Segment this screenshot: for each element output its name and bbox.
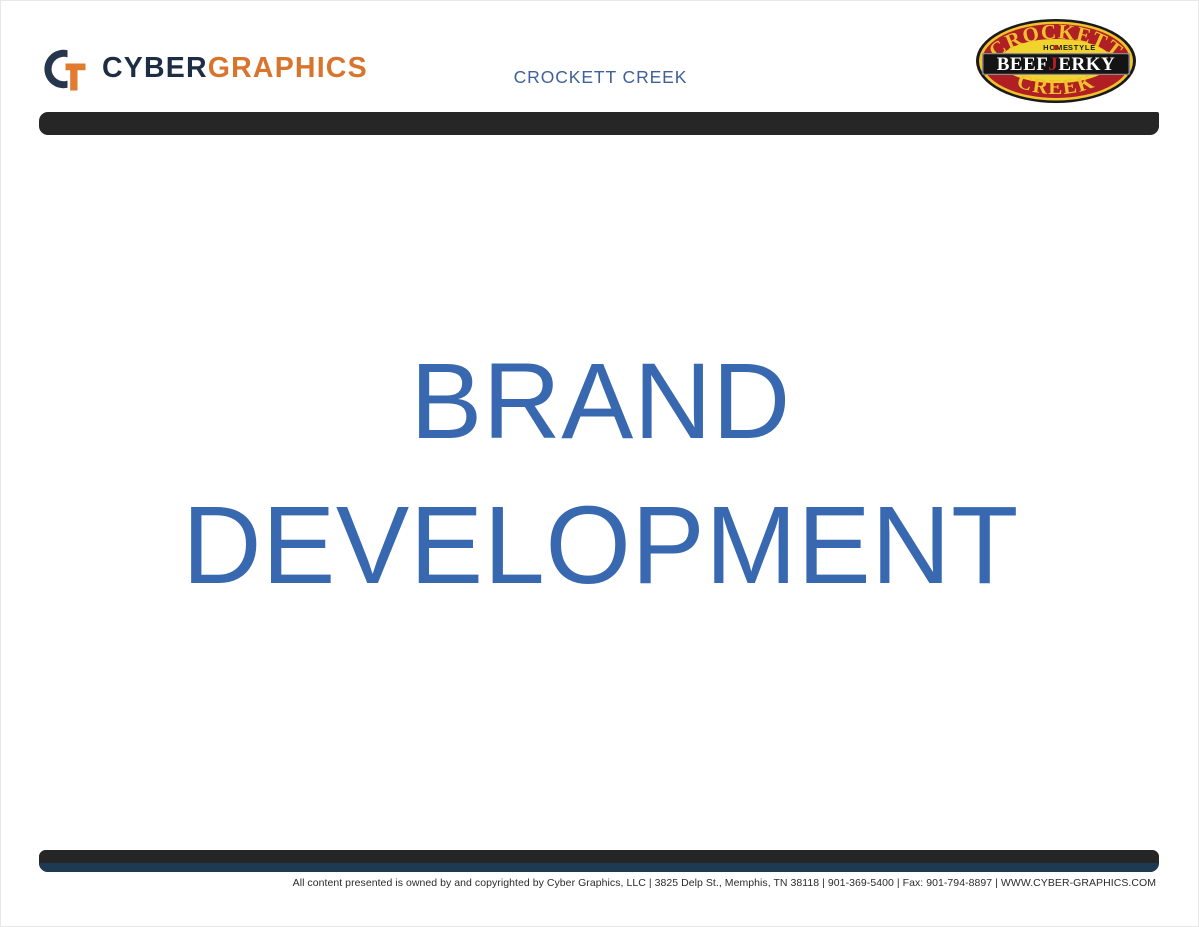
svg-text:BEEFJERKY: BEEFJERKY (997, 54, 1116, 75)
slide-body: BRAND DEVELOPMENT (1, 135, 1199, 841)
footer-rule-bar (39, 850, 1159, 872)
slide-main-title: BRAND DEVELOPMENT (1, 330, 1199, 618)
title-line-development: DEVELOPMENT (1, 473, 1199, 618)
svg-text:STYLE: STYLE (1068, 43, 1096, 52)
header-rule-bar (39, 112, 1159, 135)
footer-rule-upper (39, 850, 1159, 863)
title-line-brand: BRAND (1, 330, 1199, 473)
slide-header: CYBERGRAPHICS CROCKETT CREEK CROCKETT (1, 1, 1199, 111)
slide-canvas: CYBERGRAPHICS CROCKETT CREEK CROCKETT (0, 0, 1199, 927)
footer-rule-lower (39, 863, 1159, 872)
footer-copyright: All content presented is owned by and co… (1, 877, 1199, 889)
crockett-creek-badge-icon: CROCKETT CREEK HOME STYLE BEEFJERKY (970, 15, 1142, 107)
